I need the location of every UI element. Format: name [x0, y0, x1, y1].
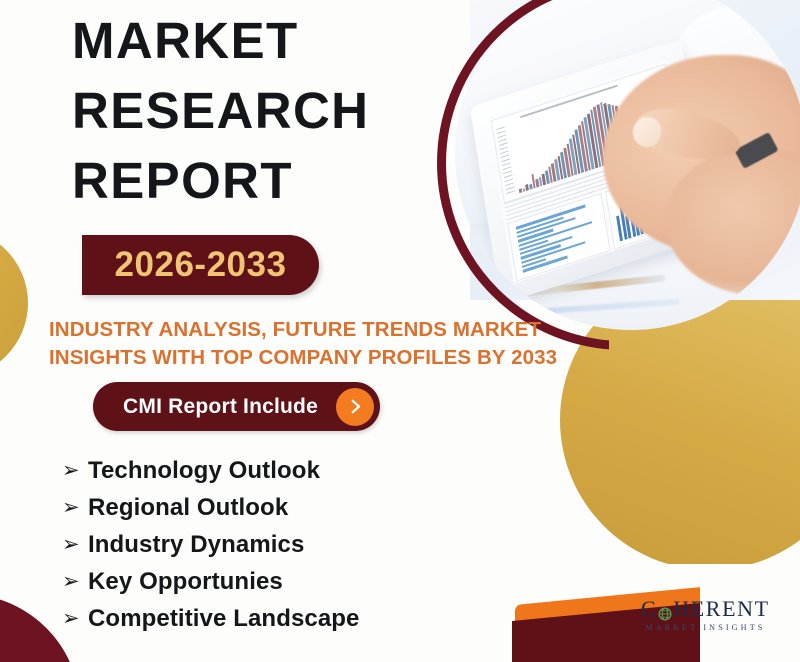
list-item: ➢ Technology Outlook	[62, 452, 360, 489]
logo-letter-c: C	[641, 598, 657, 620]
chevron-right-icon[interactable]	[336, 388, 374, 426]
logo-wordmark: C HERENT	[641, 598, 770, 620]
globe-grid-icon	[658, 603, 672, 617]
arrow-bullet-icon: ➢	[62, 608, 88, 629]
title-line-2: RESEARCH	[72, 76, 369, 146]
list-item-label: Technology Outlook	[88, 457, 320, 485]
list-item-label: Regional Outlook	[88, 494, 288, 522]
list-item: ➢ Key Opportunies	[62, 563, 360, 600]
cmi-report-include-button[interactable]: CMI Report Include	[93, 382, 380, 431]
logo-tagline: MARKET INSIGHTS	[641, 623, 770, 632]
logo-word-suffix: HERENT	[673, 598, 769, 620]
list-item: ➢ Industry Dynamics	[62, 526, 360, 563]
year-range-label: 2026-2033	[115, 245, 287, 285]
arrow-bullet-icon: ➢	[62, 534, 88, 555]
list-item-label: Key Opportunies	[88, 568, 283, 596]
title-line-3: REPORT	[72, 146, 369, 216]
gold-circle-decoration-left	[0, 228, 28, 378]
title-line-1: MARKET	[72, 6, 369, 76]
coherent-market-insights-logo: C HERENT MARKET INSIGHTS	[641, 598, 770, 632]
maroon-band-decoration-2	[512, 642, 700, 662]
cmi-report-include-label: CMI Report Include	[93, 395, 336, 419]
page-title: MARKET RESEARCH REPORT	[72, 6, 369, 216]
year-range-badge: 2026-2033	[82, 235, 319, 295]
list-item-label: Competitive Landscape	[88, 605, 360, 633]
subheadline: INDUSTRY ANALYSIS, FUTURE TRENDS MARKET …	[49, 316, 569, 372]
list-item-label: Industry Dynamics	[88, 531, 304, 559]
arrow-bullet-icon: ➢	[62, 460, 88, 481]
report-inclusions-list: ➢ Technology Outlook ➢ Regional Outlook …	[62, 452, 360, 637]
market-research-report-poster: MARKET RESEARCH REPORT 2026-2033 INDUSTR…	[0, 0, 800, 662]
list-item: ➢ Competitive Landscape	[62, 600, 360, 637]
list-item: ➢ Regional Outlook	[62, 489, 360, 526]
arrow-bullet-icon: ➢	[62, 497, 88, 518]
arrow-bullet-icon: ➢	[62, 571, 88, 592]
hero-photo-tablet-analytics	[455, 0, 800, 330]
